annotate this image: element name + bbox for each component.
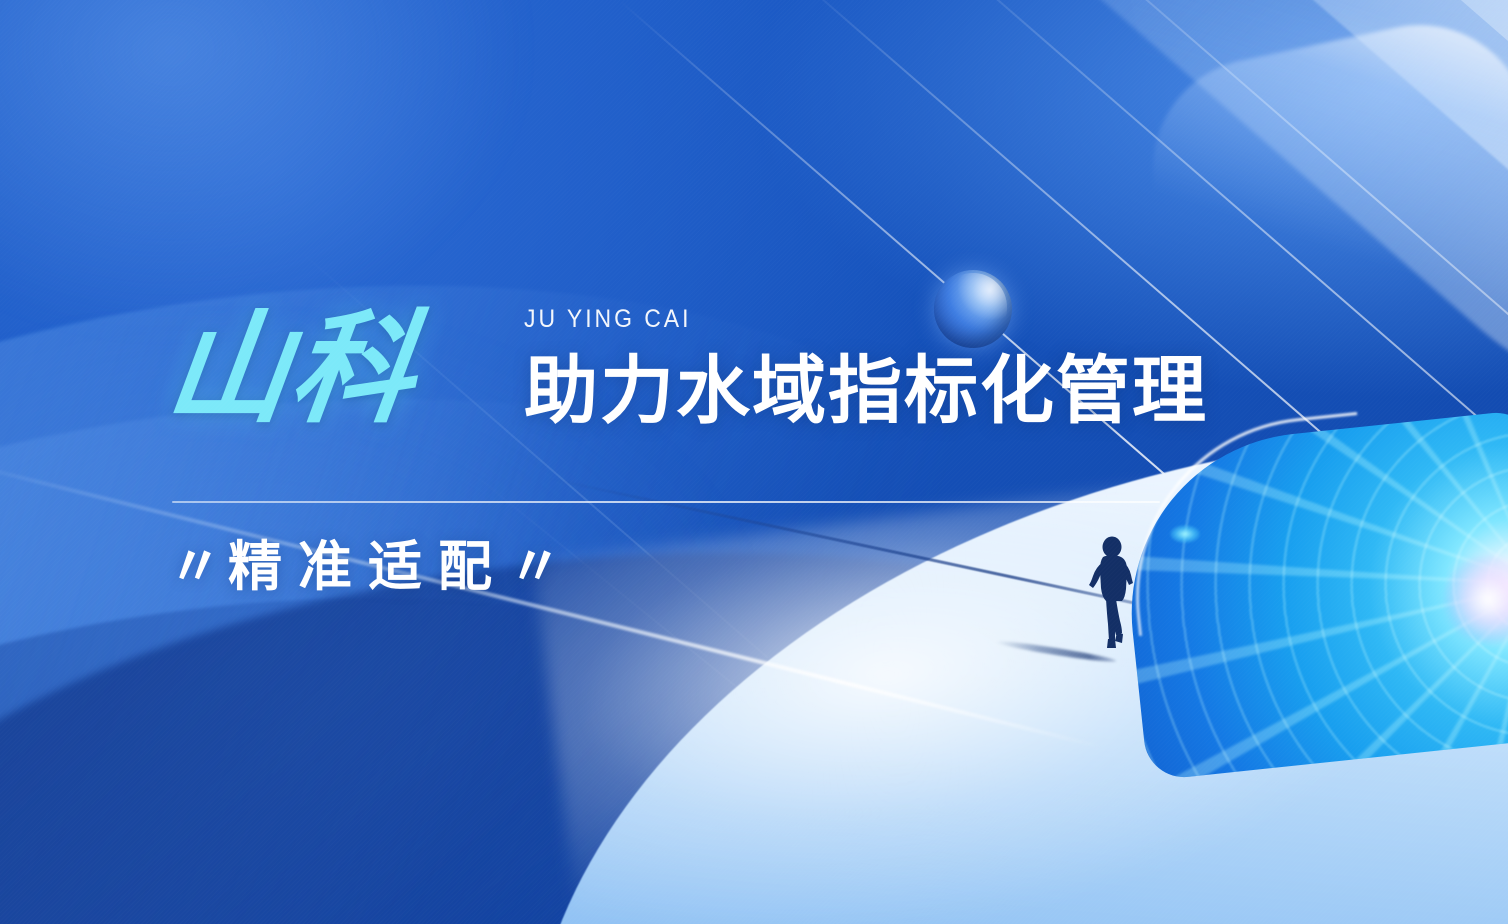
tagline-open-quote: 〃 xyxy=(168,537,228,597)
vortex-glint xyxy=(1170,525,1200,543)
brand-logo-text: 山科 xyxy=(161,308,424,430)
brand-pinyin: JU YING CAI xyxy=(524,305,691,334)
banner-canvas: 山科 JU YING CAI 助力水域指标化管理 〃精准适配〃 xyxy=(0,0,1508,924)
running-person-icon xyxy=(1084,536,1140,650)
page-title: 助力水域指标化管理 xyxy=(524,354,1208,428)
sphere-icon xyxy=(934,270,1012,348)
tagline-text: 精准适配 xyxy=(228,537,508,597)
tagline-close-quote: 〃 xyxy=(508,537,568,597)
tagline: 〃精准适配〃 xyxy=(168,540,568,594)
divider xyxy=(172,501,1160,503)
